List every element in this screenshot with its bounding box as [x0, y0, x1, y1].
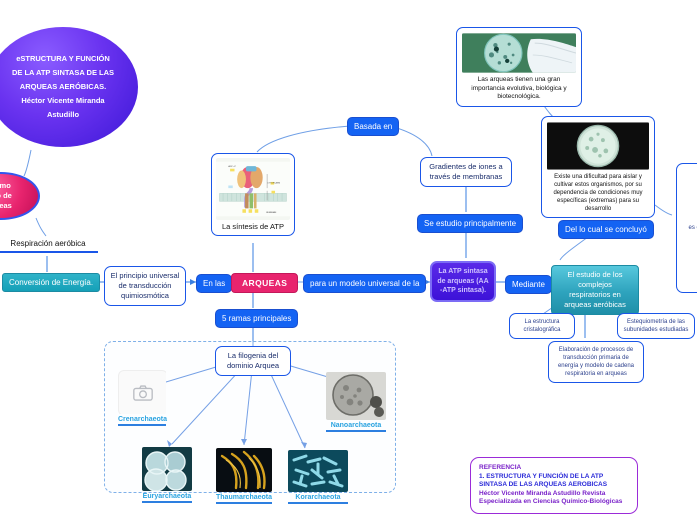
- atp-synthase-diagram-image: CYTOPLASM MEMBRANE ADP +P: [216, 158, 290, 220]
- petri-dish-hand-image: [462, 33, 576, 73]
- node-en-las-label: En las: [203, 279, 225, 288]
- node-cinco-ramas-label: 5 ramas principales: [222, 314, 291, 323]
- root-title-line-1: eSTRUCTURA Y FUNCIÓN: [12, 52, 114, 66]
- nanoarchaeota-micrograph-image: [326, 372, 386, 420]
- node-estequiometria-subunidades[interactable]: Estequiometría de las subunidades estudi…: [617, 313, 695, 339]
- node-conversion-label: Conversión de Energía.: [9, 278, 93, 287]
- euryarchaeota-micrograph-image: [142, 447, 192, 491]
- node-conversion-energia[interactable]: Conversión de Energía.: [2, 273, 100, 292]
- underline: [216, 502, 272, 504]
- phylum-label[interactable]: Euryarchaeota: [142, 493, 192, 503]
- node-metabolismo-arqueas[interactable]: lismo ico de queas: [0, 172, 40, 220]
- node-gradientes-iones[interactable]: Gradientes de iones a través de membrana…: [420, 157, 512, 187]
- phylum-thaumarchaeota[interactable]: Thaumarchaeota: [216, 448, 272, 504]
- node-principio-universal[interactable]: El principio universal de transducción q…: [104, 266, 186, 306]
- node-clipped-right-label: es evolu sido: [688, 224, 697, 232]
- phylum-crenarchaeota[interactable]: Crenarchaeota: [118, 370, 166, 426]
- node-respiracion-aerobica[interactable]: Respiración aeróbica: [0, 238, 98, 253]
- node-se-estudio-principalmente[interactable]: Se estudio principalmente: [417, 214, 523, 233]
- node-del-cual-se-concluyo[interactable]: Del lo cual se concluyó: [558, 220, 654, 239]
- node-se-estudio-label: Se estudio principalmente: [424, 219, 516, 228]
- node-metabolismo-label: lismo ico de queas: [0, 181, 12, 211]
- underline: [326, 430, 386, 432]
- node-basada-en[interactable]: Basada en: [347, 117, 399, 136]
- reference-box[interactable]: REFERENCIA 1. ESTRUCTURA Y FUNCIÓN DE LA…: [470, 457, 638, 514]
- node-estructura-cristalografica-label: La estructura cristalográfica: [523, 319, 560, 333]
- phylum-label[interactable]: Thaumarchaeota: [216, 494, 272, 504]
- node-respiracion-label: Respiración aeróbica: [10, 239, 85, 248]
- root-title-line-3: ARQUEAS AERÓBICAS.: [12, 80, 114, 94]
- node-del-cual-label: Del lo cual se concluyó: [565, 225, 647, 234]
- node-estudio-complejos-respiratorios[interactable]: El estudio de los complejos respiratorio…: [551, 265, 639, 315]
- node-importancia-arqueas-card[interactable]: Las arqueas tienen una gran importancia …: [456, 27, 582, 107]
- agar-plate-image: [547, 122, 649, 170]
- node-cinco-ramas-principales[interactable]: 5 ramas principales: [215, 309, 298, 328]
- root-node[interactable]: eSTRUCTURA Y FUNCIÓN DE LA ATP SINTASA D…: [0, 27, 138, 147]
- thaumarchaeota-micrograph-image: [216, 448, 272, 492]
- underline: [142, 501, 192, 503]
- reference-title: 1. ESTRUCTURA Y FUNCIÓN DE LA ATP SINTAS…: [479, 473, 629, 490]
- korarchaeota-micrograph-image: [288, 450, 348, 492]
- node-dificultad-cultivo-card[interactable]: Existe una dificultad para aislar y cult…: [541, 116, 655, 218]
- svg-text:CYTOPLASM: CYTOPLASM: [267, 182, 280, 185]
- node-filogenia-dominio-arquea[interactable]: La filogenia del dominio Arquea: [215, 346, 291, 376]
- phylum-korarchaeota[interactable]: Korarchaeota: [288, 450, 348, 504]
- phylum-label[interactable]: Nanoarchaeota: [326, 422, 386, 432]
- node-principio-label: El principio universal de transducción q…: [111, 271, 180, 300]
- reference-heading: REFERENCIA: [479, 464, 629, 473]
- reference-author: Héctor Vicente Miranda Astudillo Revista…: [479, 490, 629, 507]
- svg-text:MEMBRANE: MEMBRANE: [266, 211, 277, 214]
- underline: [288, 502, 348, 504]
- node-atp-sintasa-label: La ATP sintasa de arqueas (AA -ATP sinta…: [437, 268, 488, 294]
- underline: [0, 251, 98, 253]
- underline: [118, 424, 166, 426]
- node-elaboracion-procesos[interactable]: Elaboración de procesos de transducción …: [548, 341, 644, 383]
- node-filogenia-label: La filogenia del dominio Arquea: [227, 351, 279, 370]
- node-importancia-caption: Las arqueas tienen una gran importancia …: [462, 76, 576, 102]
- node-arqueas-label: ARQUEAS: [242, 278, 287, 288]
- node-arqueas[interactable]: ARQUEAS: [231, 273, 298, 293]
- node-dificultad-caption: Existe una dificultad para aislar y cult…: [547, 173, 649, 213]
- node-sintesis-atp-card[interactable]: CYTOPLASM MEMBRANE ADP +P La síntesis de…: [211, 153, 295, 236]
- node-clipped-right[interactable]: es evolu sido: [676, 163, 697, 293]
- node-mediante-label: Mediante: [512, 280, 545, 289]
- root-title-line-5: Astudillo: [12, 108, 114, 122]
- svg-text:ADP +P: ADP +P: [228, 165, 236, 168]
- camera-icon: [118, 370, 166, 414]
- phylum-euryarchaeota[interactable]: Euryarchaeota: [142, 447, 192, 503]
- root-title-line-2: DE LA ATP SINTASA DE LAS: [12, 66, 114, 80]
- node-gradientes-label: Gradientes de iones a través de membrana…: [429, 162, 502, 181]
- node-basada-en-label: Basada en: [354, 122, 392, 131]
- node-en-las[interactable]: En las: [196, 274, 232, 293]
- node-estructura-cristalografica[interactable]: La estructura cristalográfica: [509, 313, 575, 339]
- phylum-nanoarchaeota[interactable]: Nanoarchaeota: [326, 372, 386, 432]
- node-estequiometria-label: Estequiometría de las subunidades estudi…: [624, 319, 689, 333]
- node-elaboracion-label: Elaboración de procesos de transducción …: [558, 347, 634, 377]
- node-mediante[interactable]: Mediante: [505, 275, 552, 294]
- mindmap-canvas: eSTRUCTURA Y FUNCIÓN DE LA ATP SINTASA D…: [0, 0, 697, 520]
- node-modelo-universal[interactable]: para un modelo universal de la: [303, 274, 426, 293]
- node-sintesis-atp-caption: La síntesis de ATP: [216, 222, 290, 232]
- node-modelo-universal-label: para un modelo universal de la: [310, 279, 419, 288]
- node-atp-sintasa-arqueas[interactable]: La ATP sintasa de arqueas (AA -ATP sinta…: [430, 261, 496, 302]
- phylum-label[interactable]: Crenarchaeota: [118, 416, 166, 426]
- node-estudio-complejos-label: El estudio de los complejos respiratorio…: [564, 270, 626, 309]
- phylum-label[interactable]: Korarchaeota: [288, 494, 348, 504]
- root-title-line-4: Héctor Vicente Miranda: [12, 94, 114, 108]
